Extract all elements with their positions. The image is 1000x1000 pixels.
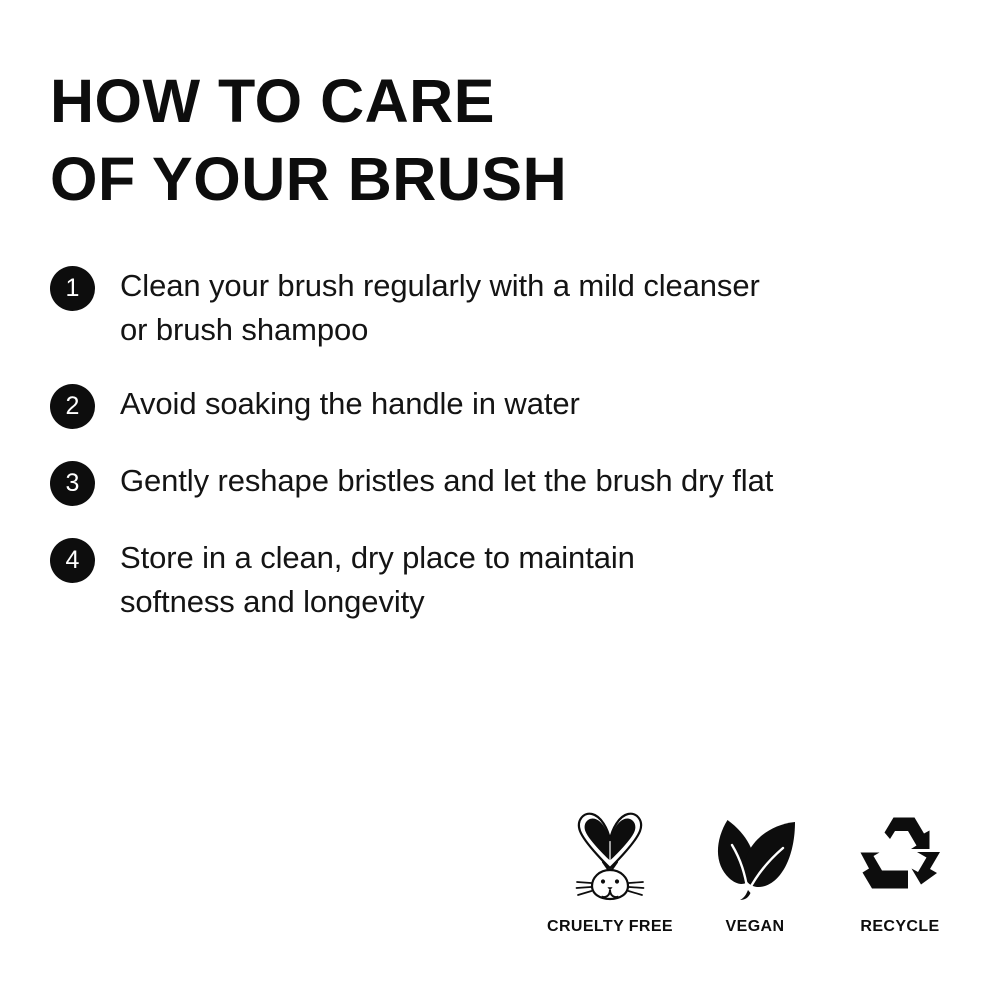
certification-label: CRUELTY FREE (547, 918, 673, 936)
list-item: 3 Gently reshape bristles and let the br… (50, 459, 950, 506)
page-title: HOW TO CARE OF YOUR BRUSH (50, 62, 567, 218)
certification-badges: CRUELTY FREE VEGAN (540, 808, 970, 936)
leaves-icon (707, 808, 803, 904)
step-text-line: Store in a clean, dry place to maintain (120, 536, 950, 580)
step-text-line: softness and longevity (120, 580, 950, 624)
step-text: Gently reshape bristles and let the brus… (120, 459, 950, 503)
step-text: Clean your brush regularly with a mild c… (120, 264, 950, 352)
step-text-line: Avoid soaking the handle in water (120, 382, 950, 426)
step-number-badge: 3 (50, 461, 95, 506)
step-text-line: Clean your brush regularly with a mild c… (120, 264, 950, 308)
list-item: 4 Store in a clean, dry place to maintai… (50, 536, 950, 624)
care-steps-list: 1 Clean your brush regularly with a mild… (50, 264, 950, 624)
step-number-badge: 2 (50, 384, 95, 429)
list-item: 2 Avoid soaking the handle in water (50, 382, 950, 429)
step-text-line: Gently reshape bristles and let the brus… (120, 459, 950, 503)
step-number-badge: 1 (50, 266, 95, 311)
step-text: Store in a clean, dry place to maintain … (120, 536, 950, 624)
certification-vegan: VEGAN (685, 808, 825, 936)
page-title-line-1: HOW TO CARE (50, 62, 567, 140)
bunny-heart-icon (558, 808, 662, 904)
certification-recycle: RECYCLE (830, 808, 970, 936)
certification-cruelty-free: CRUELTY FREE (540, 808, 680, 936)
page-title-line-2: OF YOUR BRUSH (50, 140, 567, 218)
list-item: 1 Clean your brush regularly with a mild… (50, 264, 950, 352)
certification-label: RECYCLE (860, 918, 939, 936)
step-number-badge: 4 (50, 538, 95, 583)
recycle-icon (854, 808, 946, 904)
certification-label: VEGAN (726, 918, 785, 936)
step-text: Avoid soaking the handle in water (120, 382, 950, 426)
brush-care-infographic: HOW TO CARE OF YOUR BRUSH 1 Clean your b… (0, 0, 1000, 1000)
step-text-line: or brush shampoo (120, 308, 950, 352)
